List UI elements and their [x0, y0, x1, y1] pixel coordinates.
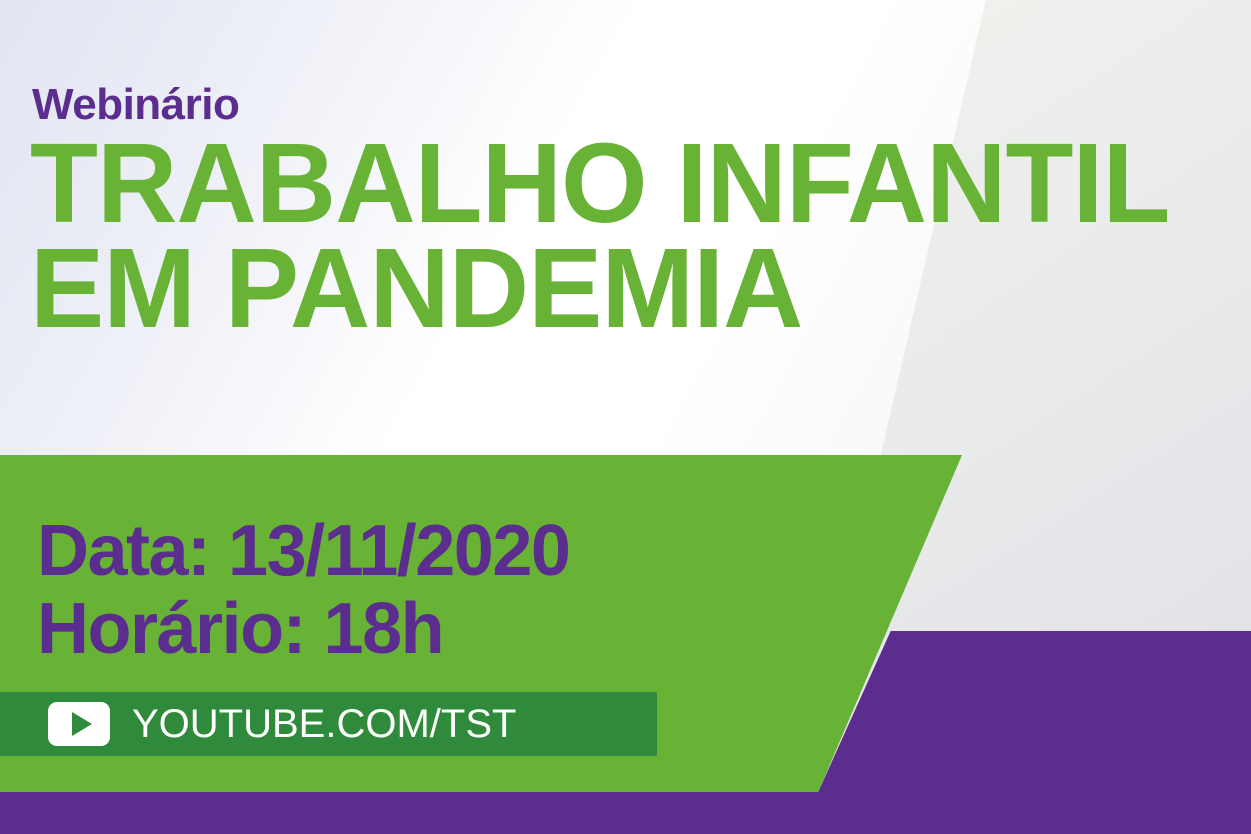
event-details: Data: 13/11/2020 Horário: 18h [37, 512, 569, 669]
webinar-poster: Webinário TRABALHO INFANTIL EM PANDEMIA … [0, 0, 1251, 834]
event-date: Data: 13/11/2020 [37, 512, 569, 590]
event-time: Horário: 18h [37, 590, 569, 668]
page-title-line-2: EM PANDEMIA [30, 236, 1222, 341]
page-title-line-1: TRABALHO INFANTIL [30, 131, 1222, 236]
youtube-url-label: YOUTUBE.COM/TST [132, 702, 516, 747]
play-triangle-icon [72, 712, 92, 736]
page-title: TRABALHO INFANTIL EM PANDEMIA [30, 131, 1222, 341]
youtube-play-icon [48, 702, 110, 746]
youtube-channel-bar[interactable]: YOUTUBE.COM/TST [0, 692, 657, 756]
